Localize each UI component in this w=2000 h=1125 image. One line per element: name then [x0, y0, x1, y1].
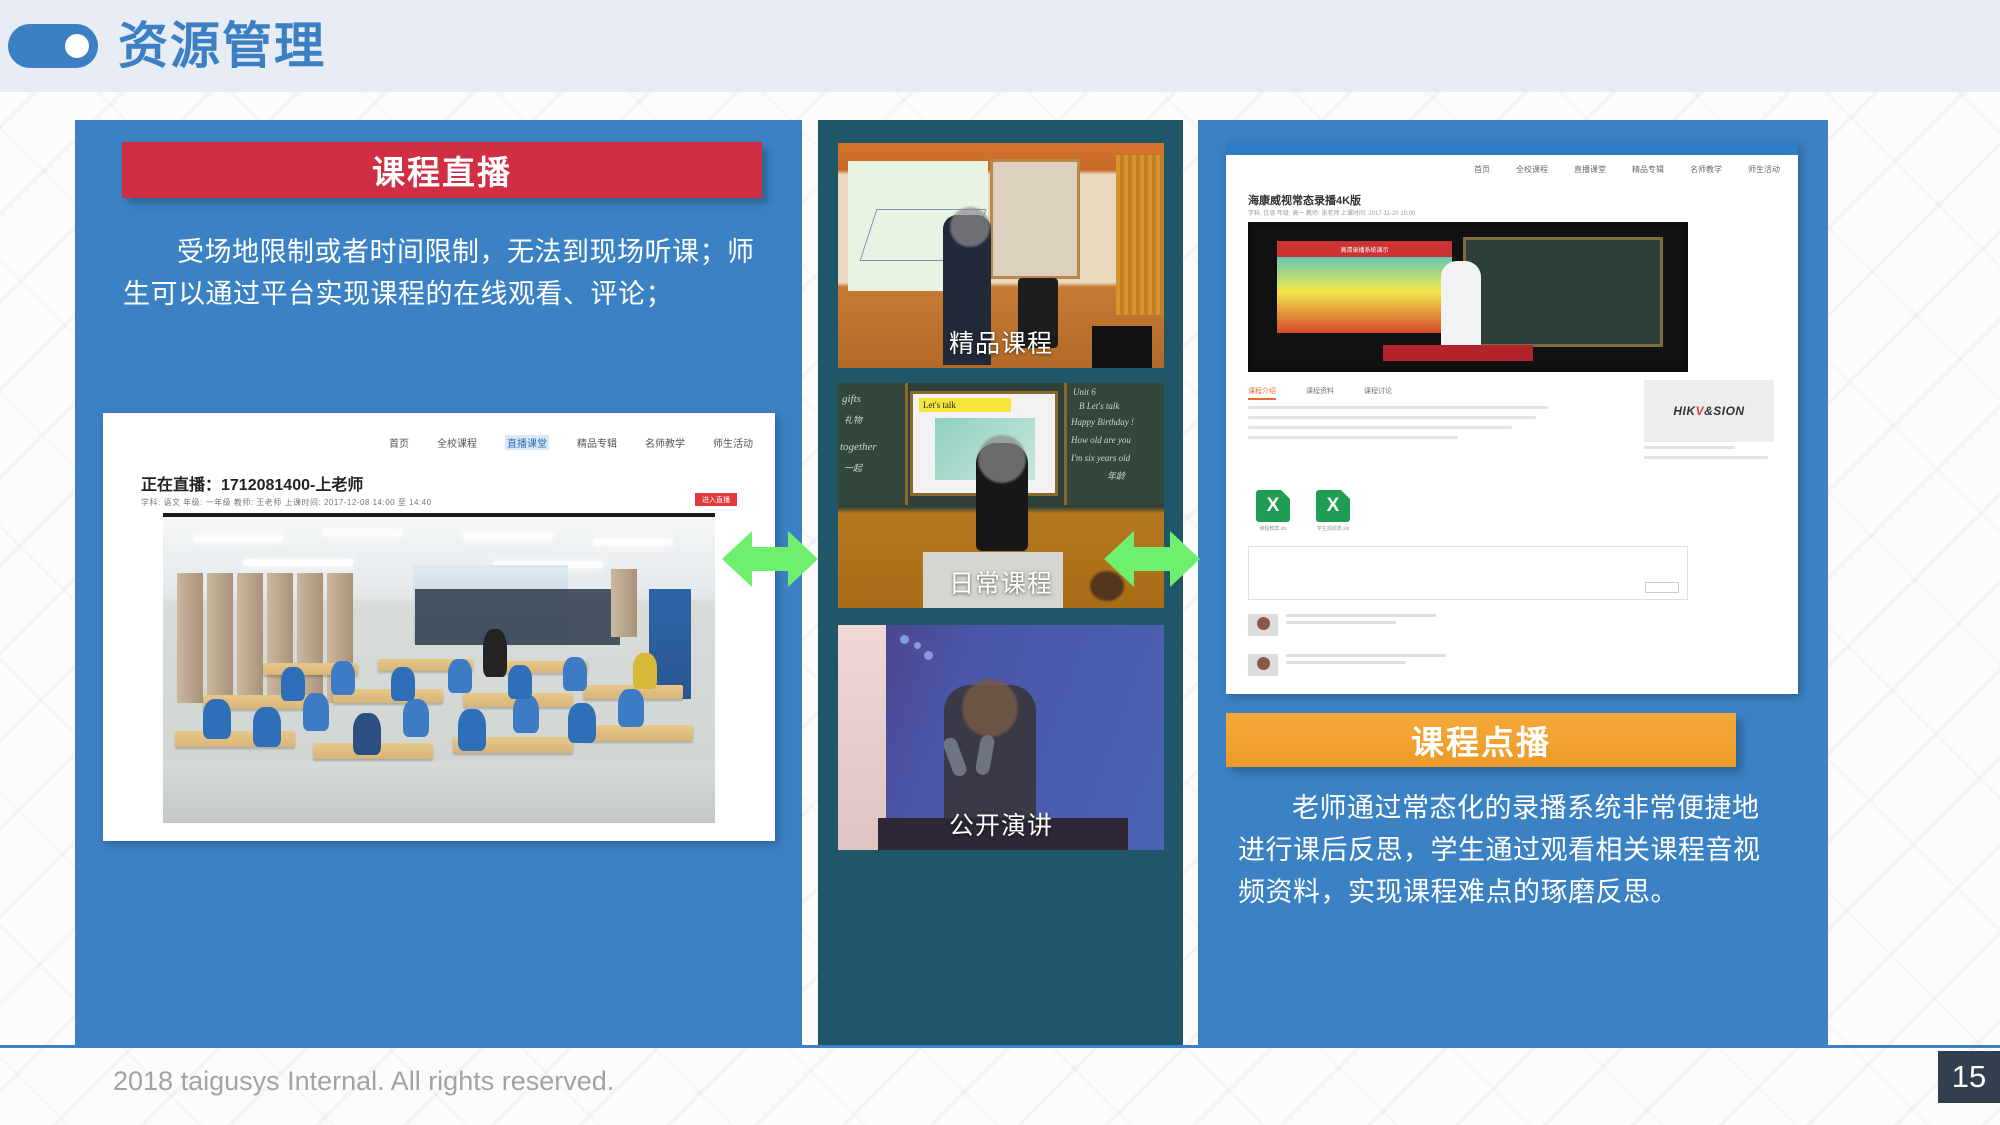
comment-body	[1286, 654, 1446, 668]
nav-item-home[interactable]: 首页	[389, 435, 409, 450]
right-site-nav[interactable]: 首页 全校课程 直播课堂 精品专辑 名师教学 师生活动	[1474, 164, 1780, 175]
chalk-text: together	[840, 441, 877, 453]
student	[403, 699, 429, 737]
excel-file-icon[interactable]: X	[1256, 490, 1290, 522]
video-player[interactable]: 高清录播系统演示	[1248, 222, 1688, 372]
student	[633, 653, 657, 689]
nav-item-home[interactable]: 首页	[1474, 164, 1490, 175]
right-body-text: 老师通过常态化的录播系统非常便捷地进行课后反思，学生通过观看相关课程音视频资料，…	[1238, 788, 1763, 914]
comment-submit-button[interactable]	[1645, 582, 1679, 593]
attachment-name: 学生成绩表.xls	[1316, 525, 1350, 532]
chalk-text: I'm six years old	[1071, 453, 1130, 463]
student	[391, 667, 415, 701]
decor-dot	[924, 651, 933, 660]
decor-dot	[914, 642, 921, 649]
chalk-text: How old are you	[1071, 435, 1131, 445]
chalk-text: gifts	[842, 393, 861, 405]
double-arrow-center-right	[1104, 527, 1200, 591]
blurred-face	[950, 207, 990, 247]
student	[618, 689, 644, 727]
brand-logo: HIKV&SION	[1644, 380, 1774, 442]
enter-live-button[interactable]: 进入直播	[695, 493, 737, 506]
media-photo-speech: 公开演讲	[838, 625, 1164, 850]
classroom-photo	[163, 513, 715, 823]
panel-course-live: 课程直播 受场地限制或者时间限制，无法到现场听课；师生可以通过平台实现课程的在线…	[75, 120, 802, 1045]
decor-dots	[900, 635, 940, 661]
left-body-text: 受场地限制或者时间限制，无法到现场听课；师生可以通过平台实现课程的在线观看、评论…	[123, 232, 763, 316]
student	[563, 657, 587, 691]
ceiling-light	[193, 535, 283, 542]
nav-item-activities[interactable]: 师生活动	[1748, 164, 1780, 175]
blackboard-right: Unit 6 B Let's talk Happy Birthday ! How…	[1064, 383, 1164, 505]
blurred-face	[978, 435, 1026, 483]
left-banner-label: 课程直播	[372, 146, 512, 194]
course-meta: 学科: 信息 年级: 高一 教师: 张老师 上课时间: 2017-11-20 1…	[1248, 208, 1415, 217]
curtain	[237, 573, 263, 703]
tab-materials[interactable]: 课程资料	[1306, 386, 1334, 400]
right-screenshot-card: 首页 全校课程 直播课堂 精品专辑 名师教学 师生活动 海康威视常态录播4K版 …	[1226, 142, 1798, 694]
student	[448, 659, 472, 693]
student	[203, 699, 231, 739]
excel-file-icon[interactable]: X	[1316, 490, 1350, 522]
ceiling-light	[463, 533, 553, 540]
ceiling-light	[243, 559, 353, 566]
brand-caption	[1644, 446, 1774, 466]
right-banner-label: 课程点播	[1411, 716, 1551, 764]
presenter-figure	[1441, 261, 1481, 353]
ceiling-light	[593, 539, 673, 546]
chalk-text: Happy Birthday !	[1071, 417, 1134, 427]
attachment-name: 课程教案.xls	[1256, 525, 1290, 532]
toggle-pill-icon	[8, 24, 98, 68]
student	[331, 661, 355, 695]
attachment-list[interactable]: X 课程教案.xls X 学生成绩表.xls	[1256, 490, 1350, 532]
comment-item	[1248, 614, 1436, 636]
left-site-nav[interactable]: 首页 全校课程 直播课堂 精品专辑 名师教学 师生活动	[389, 435, 753, 450]
student	[281, 667, 305, 701]
nav-item-activities[interactable]: 师生活动	[713, 435, 753, 450]
course-description-lines	[1248, 406, 1548, 446]
nav-item-all-courses[interactable]: 全校课程	[1516, 164, 1548, 175]
site-topbar	[1226, 142, 1798, 155]
window-blinds	[1116, 155, 1164, 315]
back-equipment	[415, 589, 620, 645]
live-title: 正在直播：1712081400-上老师	[141, 471, 363, 495]
nav-item-featured[interactable]: 精品专辑	[577, 435, 617, 450]
chalk-text: 礼物	[844, 413, 862, 426]
student	[513, 695, 539, 733]
page-title: 资源管理	[118, 21, 326, 71]
ceiling-light	[323, 529, 403, 536]
footer-copyright: 2018 taigusys Internal. All rights reser…	[113, 1066, 614, 1097]
blackboard-left: gifts 礼物 together 一起	[838, 383, 908, 505]
nav-item-teachers[interactable]: 名师教学	[1690, 164, 1722, 175]
chalk-text: 年龄	[1107, 469, 1125, 482]
student	[568, 703, 596, 743]
tab-discussion[interactable]: 课程讨论	[1364, 386, 1392, 400]
projection-caption: 高清录播系统演示	[1277, 241, 1452, 257]
chalk-text: Unit 6	[1073, 387, 1096, 397]
student	[303, 693, 329, 731]
live-meta: 学科: 语文 年级: 一年级 教师: 王老师 上课时间: 2017-12-08 …	[141, 497, 432, 508]
curtain	[207, 573, 233, 703]
avatar	[1248, 654, 1278, 676]
curtain	[611, 569, 637, 637]
student-desk	[583, 725, 693, 741]
screen-title: Let's talk	[919, 398, 1011, 412]
nav-item-live[interactable]: 直播课堂	[505, 435, 549, 450]
nav-item-teachers[interactable]: 名师教学	[645, 435, 685, 450]
panel-course-ondemand: 首页 全校课程 直播课堂 精品专辑 名师教学 师生活动 海康威视常态录播4K版 …	[1198, 120, 1828, 1045]
photo-caption: 精品课程	[838, 324, 1164, 360]
decor-dot	[900, 635, 909, 644]
tab-intro[interactable]: 课程介绍	[1248, 386, 1276, 400]
student	[353, 713, 381, 755]
slide-canvas: 课程直播 受场地限制或者时间限制，无法到现场听课；师生可以通过平台实现课程的在线…	[0, 92, 2000, 1025]
media-photo-featured: 精品课程	[838, 143, 1164, 368]
nav-item-all-courses[interactable]: 全校课程	[437, 435, 477, 450]
comment-body	[1286, 614, 1436, 628]
comment-input[interactable]	[1248, 546, 1688, 600]
projection-screen: 高清录播系统演示	[1277, 241, 1452, 333]
comment-item	[1248, 654, 1446, 676]
student	[508, 665, 532, 699]
secondary-board	[990, 159, 1080, 279]
slide-header: 资源管理	[0, 0, 2000, 92]
avatar	[1248, 614, 1278, 636]
left-banner: 课程直播	[122, 142, 762, 198]
footer-divider	[0, 1045, 2000, 1048]
chalk-text: 一起	[844, 461, 862, 474]
page-number-badge: 15	[1938, 1051, 2000, 1103]
course-title: 海康威视常态录播4K版	[1248, 192, 1361, 208]
chalk-text: B Let's talk	[1079, 401, 1119, 411]
student	[458, 709, 486, 751]
nav-item-featured[interactable]: 精品专辑	[1632, 164, 1664, 175]
attachment-item[interactable]: X 课程教案.xls	[1256, 490, 1290, 532]
desk-front	[1383, 345, 1533, 361]
blackboard	[1463, 237, 1663, 347]
nav-item-live[interactable]: 直播课堂	[1574, 164, 1606, 175]
student	[253, 707, 281, 747]
teacher	[483, 629, 507, 677]
floor	[163, 761, 715, 823]
curtain	[177, 573, 203, 703]
course-tabs[interactable]: 课程介绍 课程资料 课程讨论	[1248, 386, 1392, 400]
right-banner: 课程点播	[1226, 713, 1736, 767]
photo-caption: 公开演讲	[838, 806, 1164, 842]
double-arrow-left-center	[722, 527, 818, 591]
left-screenshot-card: 首页 全校课程 直播课堂 精品专辑 名师教学 师生活动 正在直播：1712081…	[103, 413, 775, 841]
blurred-face	[962, 679, 1018, 737]
attachment-item[interactable]: X 学生成绩表.xls	[1316, 490, 1350, 532]
